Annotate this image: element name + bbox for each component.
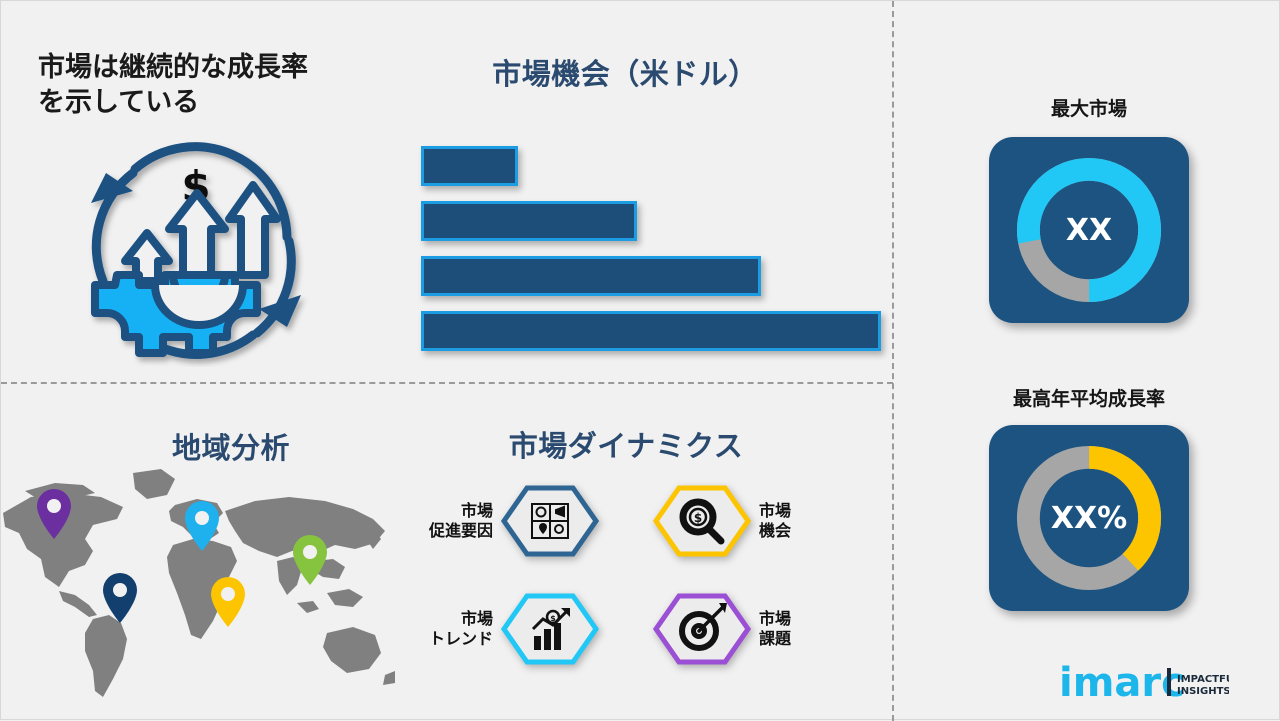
dynamics-label-opportunities: 市場 機会	[759, 501, 851, 541]
highest-cagr-donut-card: XX%	[989, 425, 1189, 611]
largest-market-label: 最大市場	[959, 94, 1219, 121]
bar-row	[421, 311, 881, 351]
dynamics-label-trends: 市場 トレンド	[401, 609, 493, 649]
logo-divider	[1167, 668, 1171, 696]
dynamics-item-drivers[interactable]: 市場 促進要因	[401, 485, 599, 557]
highest-cagr-donut	[1009, 438, 1169, 598]
dynamics-item-challenges[interactable]: 市場 課題	[653, 593, 851, 665]
svg-text:$: $	[694, 511, 702, 525]
largest-market-donut	[1009, 150, 1169, 310]
largest-market-donut-card: XX	[989, 137, 1189, 323]
opportunity-panel-title: 市場機会（米ドル）	[405, 51, 845, 93]
dynamics-panel-title: 市場ダイナミクス	[401, 423, 851, 465]
bar-1	[421, 146, 518, 186]
hexagon-trends: $	[501, 593, 599, 665]
imarc-logo: imarc IMPACTFUL INSIGHTS	[1059, 656, 1229, 704]
hexagon-drivers	[501, 485, 599, 557]
slide-canvas: 市場は継続的な成長率 を示している $	[0, 0, 1280, 720]
growth-panel-title: 市場は継続的な成長率 を示している	[38, 51, 388, 120]
bar-2	[421, 201, 637, 241]
dynamics-label-challenges: 市場 課題	[759, 609, 851, 649]
dynamics-item-trends[interactable]: 市場 トレンド $	[401, 593, 599, 665]
opportunity-bar-chart	[421, 146, 881, 351]
divider-vertical	[892, 1, 894, 721]
market-dynamics-group: 市場 促進要因	[401, 479, 851, 679]
logo-tagline-line2: INSIGHTS	[1177, 686, 1229, 697]
dynamics-label-drivers: 市場 促進要因	[401, 501, 493, 541]
bar-row	[421, 201, 637, 241]
hexagon-opportunities: $	[653, 485, 751, 557]
bar-3	[421, 256, 761, 296]
dynamics-item-opportunities[interactable]: $ 市場 機会	[653, 485, 851, 557]
logo-tagline-line1: IMPACTFUL	[1177, 674, 1229, 685]
map-pin-africa	[211, 577, 245, 627]
hexagon-challenges	[653, 593, 751, 665]
world-map	[0, 453, 397, 713]
highest-cagr-label: 最高年平均成長率	[959, 384, 1219, 411]
svg-text:$: $	[550, 614, 556, 623]
growth-gear-arrows-icon: $	[73, 129, 318, 367]
bar-row	[421, 256, 761, 296]
divider-horizontal	[1, 382, 893, 384]
bar-4	[421, 311, 881, 351]
logo-wordmark: imarc	[1059, 660, 1185, 704]
bar-row	[421, 146, 518, 186]
